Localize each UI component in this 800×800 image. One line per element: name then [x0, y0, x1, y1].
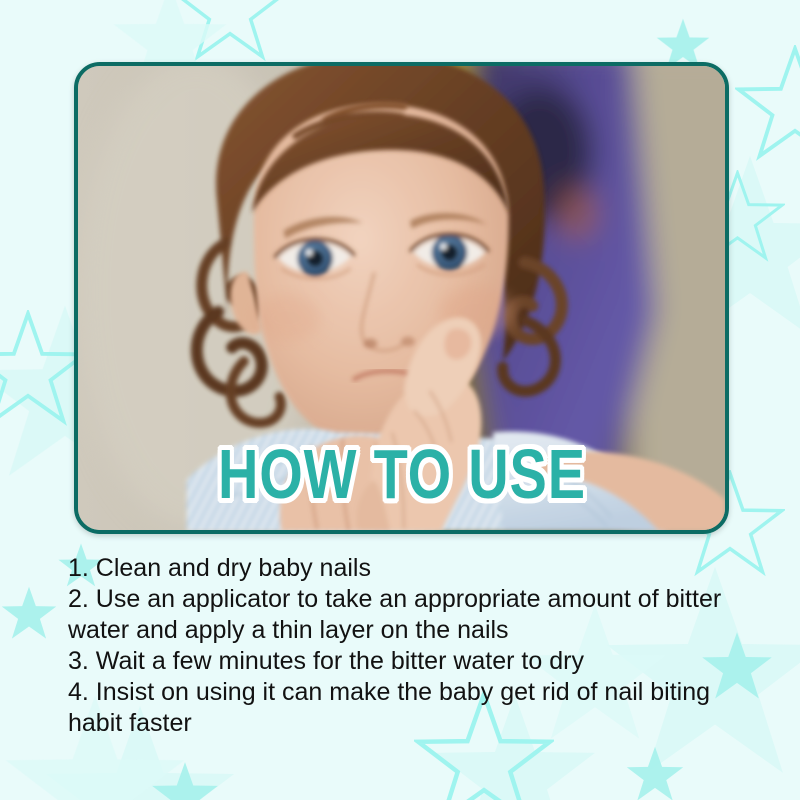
list-item: 1. Clean and dry baby nails: [68, 553, 758, 584]
page-title: HOW TO USE: [218, 442, 586, 506]
photo-card: HOW TO USE: [74, 62, 729, 534]
instruction-list: 1. Clean and dry baby nails 2. Use an ap…: [68, 553, 758, 739]
how-to-use-poster: HOW TO USE 1. Clean and dry baby nails 2…: [0, 0, 800, 800]
list-item: 3. Wait a few minutes for the bitter wat…: [68, 646, 758, 677]
list-item: 2. Use an applicator to take an appropri…: [68, 584, 758, 646]
headline-container: HOW TO USE: [78, 442, 725, 506]
list-item: 4. Insist on using it can make the baby …: [68, 677, 758, 739]
